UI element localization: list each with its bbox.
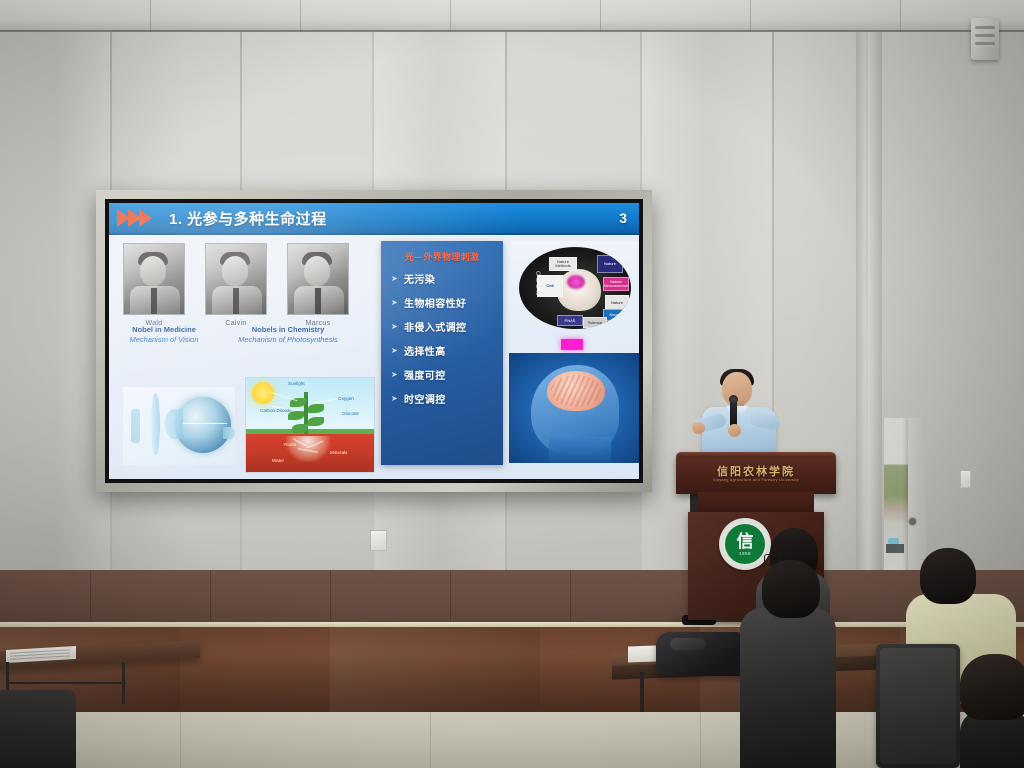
wall-plate	[960, 470, 971, 488]
journal-cover: Nature Neuroscience	[603, 277, 629, 291]
label-oxygen: Oxygen	[338, 396, 354, 401]
light-switch[interactable]	[370, 530, 387, 551]
portrait-marcus: Marcus	[287, 243, 349, 327]
portrait-photo	[123, 243, 185, 315]
optogenetics-collage: OGEN Nature Methods Cell Nature Nature N…	[511, 241, 637, 335]
bullet-label: 无污染	[404, 271, 435, 286]
presenter-left-hand	[692, 422, 705, 434]
presenter-right-hand	[728, 424, 741, 437]
double-arrow-icon	[117, 209, 163, 227]
advantages-panel: 光—外界物理刺激 ➤ 无污染 ➤ 生物相容性好 ➤	[381, 241, 503, 465]
presenter[interactable]	[694, 372, 786, 460]
audience-member-foreground	[740, 560, 836, 768]
portrait-photo	[205, 243, 267, 315]
chevron-right-icon: ➤	[391, 298, 404, 307]
bullet-label: 强度可控	[404, 367, 446, 382]
bullet-label: 选择性高	[404, 343, 446, 358]
chevron-right-icon: ➤	[391, 370, 404, 379]
lecture-hall-photo: 1. 光参与多种生命过程 3 Wald	[0, 0, 1024, 768]
bullet-label: 生物相容性好	[404, 295, 466, 310]
bullet-label: 时空调控	[404, 391, 446, 406]
bullet-list: ➤ 无污染 ➤ 生物相容性好 ➤ 非侵入式调控	[381, 271, 503, 406]
magenta-accent-chip	[561, 339, 583, 350]
stage-surface	[0, 570, 1024, 626]
ceiling	[0, 0, 1024, 32]
bullet-item: ➤ 生物相容性好	[391, 295, 503, 310]
bullet-item: ➤ 无污染	[391, 271, 503, 286]
teal-object	[888, 538, 899, 544]
podium-english-name: Xinyang Agriculture and Forestry Univers…	[676, 478, 836, 482]
black-backpack	[656, 632, 748, 676]
floor	[0, 712, 1024, 768]
slide-canvas: 1. 光参与多种生命过程 3 Wald	[109, 203, 639, 479]
audience-member-right	[960, 654, 1024, 768]
journal-cover: Nature Methods	[549, 257, 577, 271]
slide-body: Wald Calvin Marcus	[109, 235, 639, 479]
slide-title: 1. 光参与多种生命过程	[169, 208, 327, 229]
side-table	[886, 544, 904, 553]
caption-chemistry: Nobels in Chemistry Mechanism of Photosy…	[213, 325, 363, 345]
panel-title: 光—外界物理刺激	[381, 250, 503, 263]
label-carbon-dioxide: Carbon Dioxide	[260, 408, 292, 413]
label-water: Water	[272, 458, 284, 463]
chevron-right-icon: ➤	[391, 346, 404, 355]
journal-cover: Cell	[537, 275, 563, 297]
journal-cover: Science	[583, 317, 607, 328]
audience-chair[interactable]	[876, 644, 960, 768]
screen-bezel: 1. 光参与多种生命过程 3 Wald	[105, 199, 643, 483]
root-system	[286, 436, 330, 462]
projection-screen[interactable]: 1. 光参与多种生命过程 3 Wald	[96, 190, 652, 492]
caption-line-2: Mechanism of Photosynthesis	[213, 335, 363, 345]
label-sunlight: Sunlight	[288, 381, 305, 386]
neck-shoulder	[549, 437, 611, 463]
collage-oval: OGEN Nature Methods Cell Nature Nature N…	[519, 247, 631, 329]
chevron-right-icon: ➤	[391, 394, 404, 403]
caption-line-1: Nobels in Chemistry	[213, 325, 363, 335]
mouse-photo	[557, 269, 601, 311]
portrait-wald: Wald	[123, 243, 185, 327]
journal-cover: PNAS	[557, 315, 583, 326]
chevron-right-icon: ➤	[391, 274, 404, 283]
wall-pillar	[856, 32, 882, 580]
chevron-right-icon: ➤	[391, 322, 404, 331]
label-minerals: Minerals	[330, 450, 347, 455]
bullet-item: ➤ 非侵入式调控	[391, 319, 503, 334]
photosynthesis-diagram: Sunlight Carbon Dioxide Oxygen Glucose R…	[245, 377, 375, 473]
portrait-photo	[287, 243, 349, 315]
portrait-calvin: Calvin	[205, 243, 267, 327]
door-knob-icon[interactable]	[909, 518, 916, 525]
slide-number: 3	[619, 210, 627, 226]
label-glucose: Glucose	[342, 411, 359, 416]
emblem-year: 1958	[739, 551, 751, 556]
brain-illustration	[509, 353, 639, 463]
wall-speaker-icon	[971, 18, 999, 60]
eye-anatomy-diagram	[123, 387, 235, 465]
emblem-character: 信	[737, 533, 754, 550]
slide-header: 1. 光参与多种生命过程 3	[109, 203, 639, 233]
brain-organ	[547, 371, 605, 411]
journal-cover: Nature	[597, 255, 623, 273]
bullet-label: 非侵入式调控	[404, 319, 466, 334]
bullet-item: ➤ 时空调控	[391, 391, 503, 406]
label-roots: Roots	[284, 442, 296, 447]
scientist-portrait-row: Wald Calvin Marcus	[121, 243, 351, 351]
caption-medicine: Nobel in Medicine Mechanism of Vision	[111, 325, 217, 345]
caption-line-2: Mechanism of Vision	[111, 335, 217, 345]
podium-chinese-name: 信阳农林学院	[676, 463, 836, 479]
bullet-item: ➤ 选择性高	[391, 343, 503, 358]
left-chair[interactable]	[0, 690, 76, 768]
caption-line-1: Nobel in Medicine	[111, 325, 217, 335]
bullet-item: ➤ 强度可控	[391, 367, 503, 382]
podium-top: 信阳农林学院 Xinyang Agriculture and Forestry …	[676, 452, 836, 494]
podium-neck	[698, 492, 814, 514]
